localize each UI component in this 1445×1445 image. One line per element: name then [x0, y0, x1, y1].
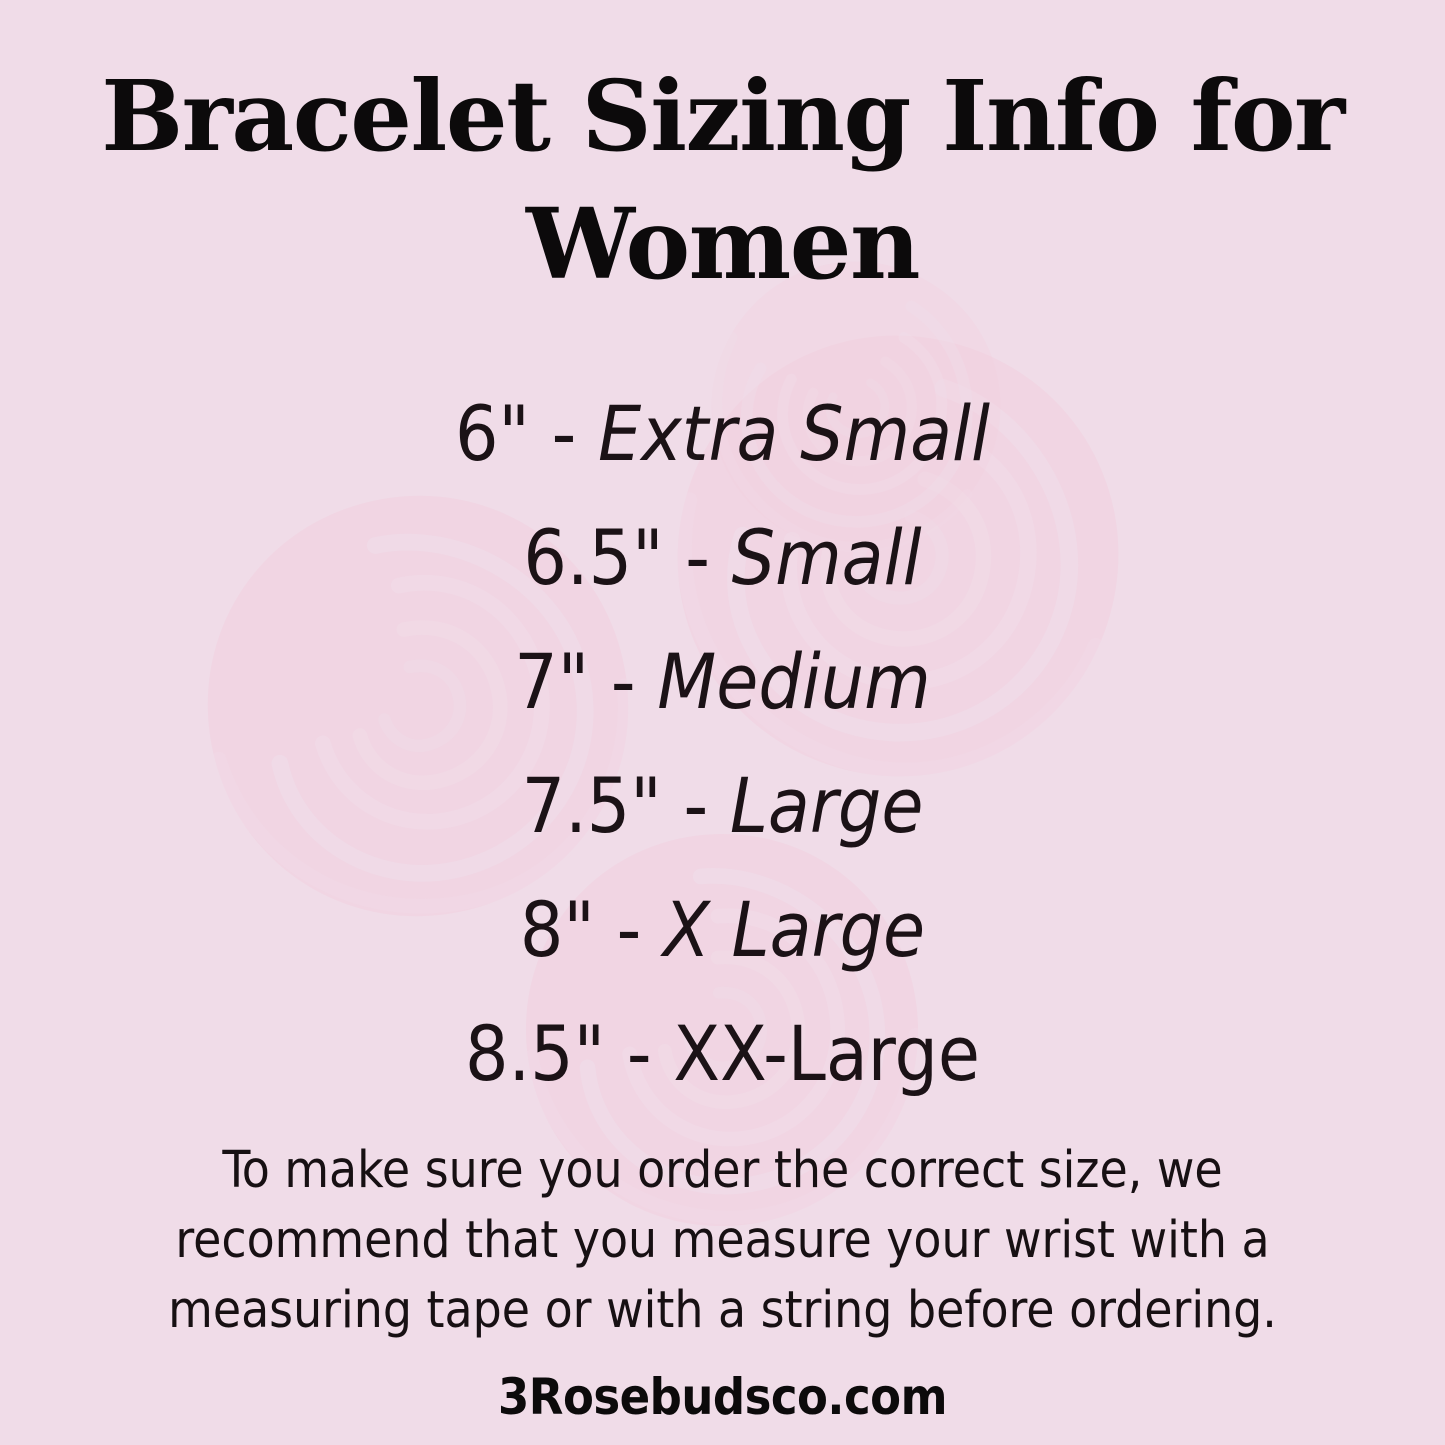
sizing-note-line-3: measuring tape or with a string before o… — [0, 1276, 1445, 1346]
size-label: Medium — [657, 637, 930, 726]
sizing-note-line-1: To make sure you order the correct size,… — [0, 1136, 1445, 1206]
size-row: 7" - Medium — [0, 620, 1445, 744]
size-separator: - — [552, 389, 577, 478]
sizing-note-line-2: recommend that you measure your wrist wi… — [0, 1206, 1445, 1276]
size-row: 8.5" - XX-Large — [0, 992, 1445, 1116]
size-label: XX-Large — [673, 1009, 980, 1098]
size-separator: - — [627, 1009, 652, 1098]
size-label: Extra Small — [598, 389, 990, 478]
size-row: 7.5" - Large — [0, 744, 1445, 868]
size-label: Small — [732, 513, 922, 602]
page-title-line-2: Women — [0, 180, 1445, 308]
size-label: Large — [730, 761, 924, 850]
size-list: 6" - Extra Small 6.5" - Small 7" - Mediu… — [0, 372, 1445, 1116]
page-title: Bracelet Sizing Info for Women — [0, 52, 1445, 308]
footer: 3Rosebudsco.com — [0, 1366, 1445, 1428]
size-row: 6" - Extra Small — [0, 372, 1445, 496]
size-separator: - — [685, 513, 710, 602]
size-row: 8" - X Large — [0, 868, 1445, 992]
size-measure: 8.5" — [465, 1009, 605, 1098]
sizing-note: To make sure you order the correct size,… — [0, 1136, 1445, 1346]
bracelet-sizing-poster: Bracelet Sizing Info for Women 6" - Extr… — [0, 0, 1445, 1445]
size-row: 6.5" - Small — [0, 496, 1445, 620]
website-url: 3Rosebudsco.com — [498, 1368, 947, 1426]
size-label: X Large — [663, 885, 925, 974]
size-measure: 7" — [514, 637, 589, 726]
size-separator: - — [617, 885, 642, 974]
size-separator: - — [611, 637, 636, 726]
size-separator: - — [683, 761, 708, 850]
page-title-line-1: Bracelet Sizing Info for — [0, 52, 1445, 180]
size-measure: 6.5" — [523, 513, 663, 602]
size-measure: 7.5" — [522, 761, 662, 850]
size-measure: 8" — [520, 885, 595, 974]
size-measure: 6" — [455, 389, 530, 478]
